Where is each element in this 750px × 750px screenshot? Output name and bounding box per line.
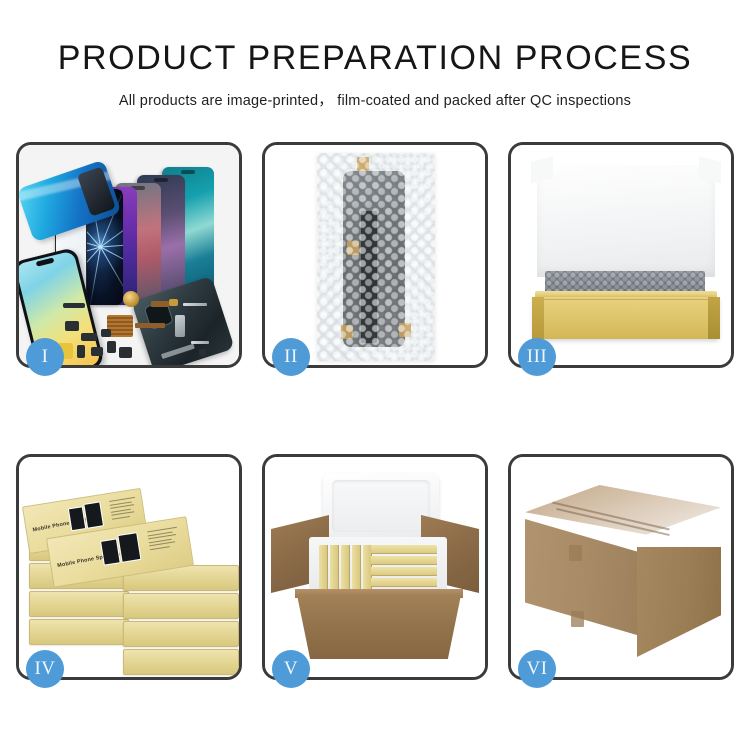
process-steps-grid: I II — [16, 142, 734, 680]
bubble-wrap-bag — [317, 153, 435, 361]
page-title: PRODUCT PREPARATION PROCESS — [0, 41, 750, 75]
step-3-badge: III — [518, 338, 556, 376]
step-3-image — [511, 145, 731, 365]
step-4-image: Mobile Phone Spare Parts Mobile Phone Sp… — [19, 457, 239, 677]
packed-boxes — [319, 545, 437, 595]
step-1-image — [19, 145, 239, 365]
tape-top — [357, 157, 369, 171]
carton-tab-upper — [569, 545, 582, 561]
kraft-box-front — [533, 297, 719, 339]
tape-bottom-right — [399, 323, 411, 337]
retail-box-stack: Mobile Phone Spare Parts Mobile Phone Sp… — [23, 479, 239, 673]
process-step-4: Mobile Phone Spare Parts Mobile Phone Sp… — [16, 454, 242, 680]
tape-bottom-left — [341, 325, 353, 339]
process-step-1: I — [16, 142, 242, 368]
step-1-badge: I — [26, 338, 64, 376]
tape-middle — [347, 241, 359, 255]
carton-side-face — [637, 547, 721, 657]
process-step-5: V — [262, 454, 488, 680]
box-lid-open — [537, 165, 715, 277]
page-header: PRODUCT PREPARATION PROCESS All products… — [0, 0, 750, 110]
carton-tab-lower — [571, 611, 584, 627]
step-2-badge: II — [272, 338, 310, 376]
step-6-image — [511, 457, 731, 677]
step-5-badge: V — [272, 650, 310, 688]
step-2-image — [265, 145, 485, 365]
step-6-badge: VI — [518, 650, 556, 688]
step-4-badge: IV — [26, 650, 64, 688]
spare-parts-cluster — [79, 295, 229, 365]
sealed-carton — [525, 485, 721, 657]
step-5-image — [265, 457, 485, 677]
page-subtitle: All products are image-printed， film-coa… — [0, 89, 750, 110]
process-step-6: VI — [508, 454, 734, 680]
process-step-2: II — [262, 142, 488, 368]
carton-front — [297, 595, 461, 659]
part-flex-strip — [361, 211, 377, 343]
process-step-3: III — [508, 142, 734, 368]
